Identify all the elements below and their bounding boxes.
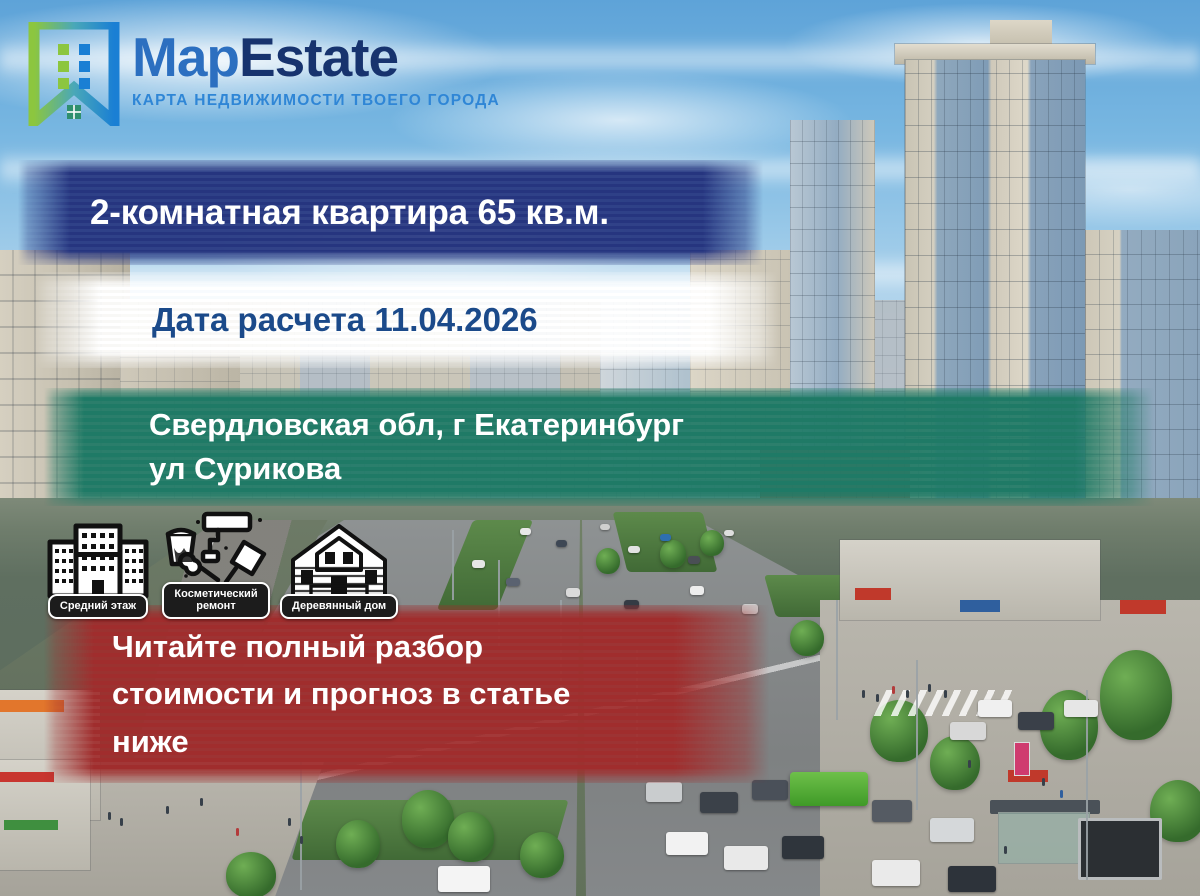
car	[628, 546, 640, 553]
brand-logo[interactable]: MapEstate КАРТА НЕДВИЖИМОСТИ ТВОЕГО ГОРО…	[28, 22, 500, 126]
car	[872, 800, 912, 822]
street-lamp	[916, 660, 918, 810]
tree	[226, 852, 276, 896]
car	[690, 586, 704, 595]
cta-line-1: Читайте полный разбор	[112, 623, 769, 670]
street-lamp	[452, 530, 454, 600]
car	[556, 540, 567, 547]
address-line-2: ул Сурикова	[149, 447, 1154, 491]
car	[472, 560, 485, 568]
shop-sign	[960, 600, 1000, 612]
feature-badge-renovation[interactable]: Косметический ремонт	[160, 508, 272, 619]
car	[506, 578, 520, 586]
car	[688, 556, 700, 564]
car	[724, 530, 734, 536]
shop-sign	[855, 588, 891, 600]
car	[666, 832, 708, 855]
tree	[336, 820, 380, 868]
bus	[790, 772, 868, 806]
promo-card: MapEstate КАРТА НЕДВИЖИМОСТИ ТВОЕГО ГОРО…	[0, 0, 1200, 896]
cta-banner: Читайте полный разбор стоимости и прогно…	[44, 605, 769, 783]
shop-sign	[4, 820, 58, 830]
pedestrian	[876, 694, 879, 702]
pedestrian	[200, 798, 203, 806]
car	[520, 528, 531, 535]
tree	[402, 790, 454, 848]
tree	[930, 736, 980, 790]
cta-line-2: стоимости и прогноз в статье	[112, 670, 769, 717]
car	[438, 866, 490, 892]
tree	[448, 812, 494, 862]
shop-sign	[1120, 600, 1166, 614]
pedestrian	[236, 828, 239, 836]
tree	[520, 832, 564, 878]
pedestrian	[906, 690, 909, 698]
pedestrian	[288, 818, 291, 826]
address-line-1: Свердловская обл, г Екатеринбург	[149, 403, 1154, 447]
car	[752, 780, 788, 800]
car	[660, 534, 671, 541]
wooden-house-icon	[281, 520, 397, 600]
brand-tagline: КАРТА НЕДВИЖИМОСТИ ТВОЕГО ГОРОДА	[132, 92, 500, 110]
pedestrian	[1004, 846, 1007, 854]
street-lamp	[1086, 690, 1088, 880]
car	[930, 818, 974, 842]
brand-wordmark: MapEstate	[132, 30, 500, 85]
feature-label: Деревянный дом	[280, 594, 398, 618]
billboard	[1078, 818, 1162, 880]
pedestrian	[944, 690, 947, 698]
feature-badge-floor[interactable]: Средний этаж	[44, 520, 152, 618]
pedestrian	[1042, 778, 1045, 786]
car	[1064, 700, 1098, 717]
feature-label: Средний этаж	[48, 594, 148, 618]
ad-column	[1014, 742, 1030, 776]
pedestrian	[300, 836, 303, 844]
date-banner: Дата расчета 11.04.2026	[34, 272, 779, 368]
property-title: 2-комнатная квартира 65 кв.м.	[18, 193, 763, 233]
car	[600, 524, 610, 530]
paint-roller-brush-icon	[160, 508, 272, 588]
pedestrian	[108, 812, 111, 820]
brand-word-estate: Estate	[239, 26, 398, 88]
logo-text-block: MapEstate КАРТА НЕДВИЖИМОСТИ ТВОЕГО ГОРО…	[132, 22, 500, 110]
pedestrian	[928, 684, 931, 692]
pedestrian	[862, 690, 865, 698]
feature-label: Косметический ремонт	[162, 582, 269, 619]
car	[872, 860, 920, 886]
tree	[596, 548, 620, 574]
bus-stop-shelter	[998, 812, 1090, 864]
car	[566, 588, 580, 597]
car	[700, 792, 738, 813]
car	[782, 836, 824, 859]
tree	[700, 530, 724, 556]
feature-badge-house-type[interactable]: Деревянный дом	[280, 520, 398, 618]
car	[950, 722, 986, 740]
title-banner: 2-комнатная квартира 65 кв.м.	[18, 160, 763, 265]
pedestrian	[1060, 790, 1063, 798]
brand-word-map: Map	[132, 26, 239, 88]
cta-line-3: ниже	[112, 718, 769, 765]
address-text: Свердловская обл, г Екатеринбург ул Сури…	[44, 403, 1154, 491]
car	[948, 866, 996, 892]
apartment-building-icon	[44, 520, 152, 600]
car	[978, 700, 1012, 717]
car	[1018, 712, 1054, 730]
calculation-date: Дата расчета 11.04.2026	[34, 301, 779, 339]
address-banner: Свердловская обл, г Екатеринбург ул Сури…	[44, 388, 1154, 506]
tree	[660, 540, 686, 568]
car	[646, 782, 682, 802]
bookmark-building-icon	[28, 22, 120, 126]
street-lamp	[836, 600, 838, 720]
pedestrian	[892, 686, 895, 694]
pedestrian	[968, 760, 971, 768]
tree	[1100, 650, 1172, 740]
feature-badges: Средний этаж	[44, 508, 398, 619]
car	[724, 846, 768, 870]
tree	[790, 620, 824, 656]
pedestrian	[120, 818, 123, 826]
pedestrian	[166, 806, 169, 814]
cta-text: Читайте полный разбор стоимости и прогно…	[44, 623, 769, 764]
